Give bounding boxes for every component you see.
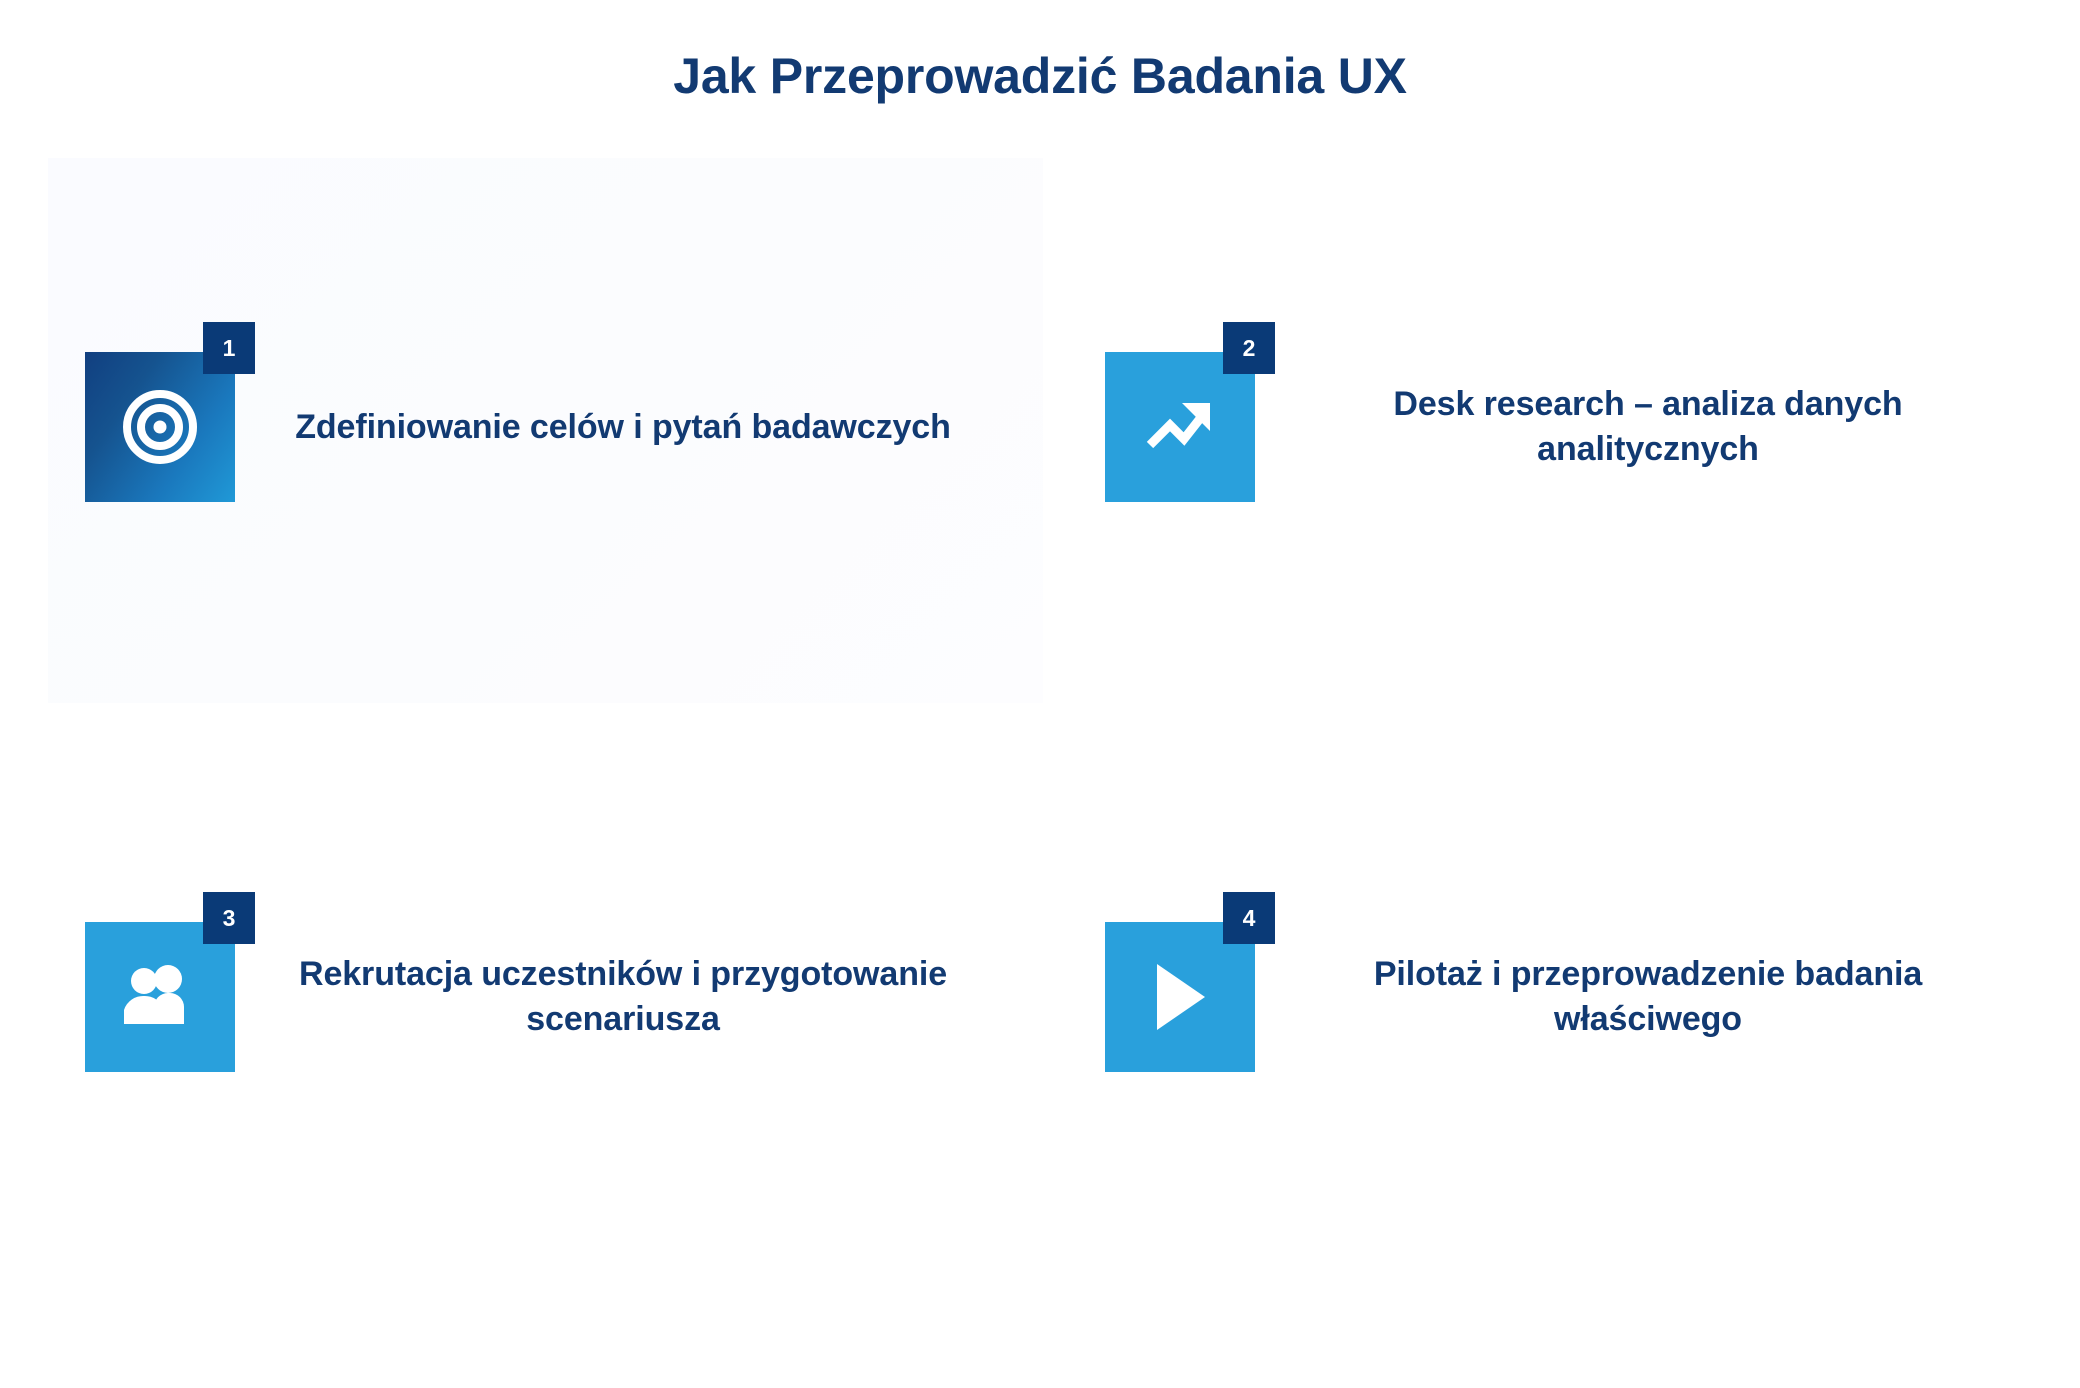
- step-2-number-badge: 2: [1223, 322, 1275, 374]
- users-group-icon: [120, 962, 200, 1032]
- step-4-tile-wrap: 4: [1105, 922, 1255, 1072]
- step-card-2[interactable]: 2 Desk research – analiza danych anality…: [1105, 352, 2025, 502]
- step-4-number-badge: 4: [1223, 892, 1275, 944]
- target-icon: [121, 388, 199, 466]
- step-2-label: Desk research – analiza danych analitycz…: [1255, 382, 2025, 472]
- step-3-label: Rekrutacja uczestników i przygotowanie s…: [235, 952, 985, 1042]
- step-4-label: Pilotaż i przeprowadzenie badania właści…: [1255, 952, 2025, 1042]
- step-card-3[interactable]: 3 Rekrutacja uczestników i przygotowanie…: [85, 922, 985, 1072]
- step-2-tile-wrap: 2: [1105, 352, 1255, 502]
- step-card-1[interactable]: 1 Zdefiniowanie celów i pytań badawczych: [85, 352, 985, 502]
- step-3-icon-tile: [85, 922, 235, 1072]
- play-triangle-icon: [1147, 960, 1213, 1034]
- step-3-tile-wrap: 3: [85, 922, 235, 1072]
- steps-grid: 1 Zdefiniowanie celów i pytań badawczych…: [0, 0, 2080, 1388]
- step-2-icon-tile: [1105, 352, 1255, 502]
- step-3-number-badge: 3: [203, 892, 255, 944]
- step-1-label: Zdefiniowanie celów i pytań badawczych: [235, 405, 985, 450]
- step-1-number-badge: 1: [203, 322, 255, 374]
- trending-up-arrow-icon: [1142, 389, 1218, 465]
- step-card-4[interactable]: 4 Pilotaż i przeprowadzenie badania właś…: [1105, 922, 2025, 1072]
- step-1-tile-wrap: 1: [85, 352, 235, 502]
- step-1-icon-tile: [85, 352, 235, 502]
- step-4-icon-tile: [1105, 922, 1255, 1072]
